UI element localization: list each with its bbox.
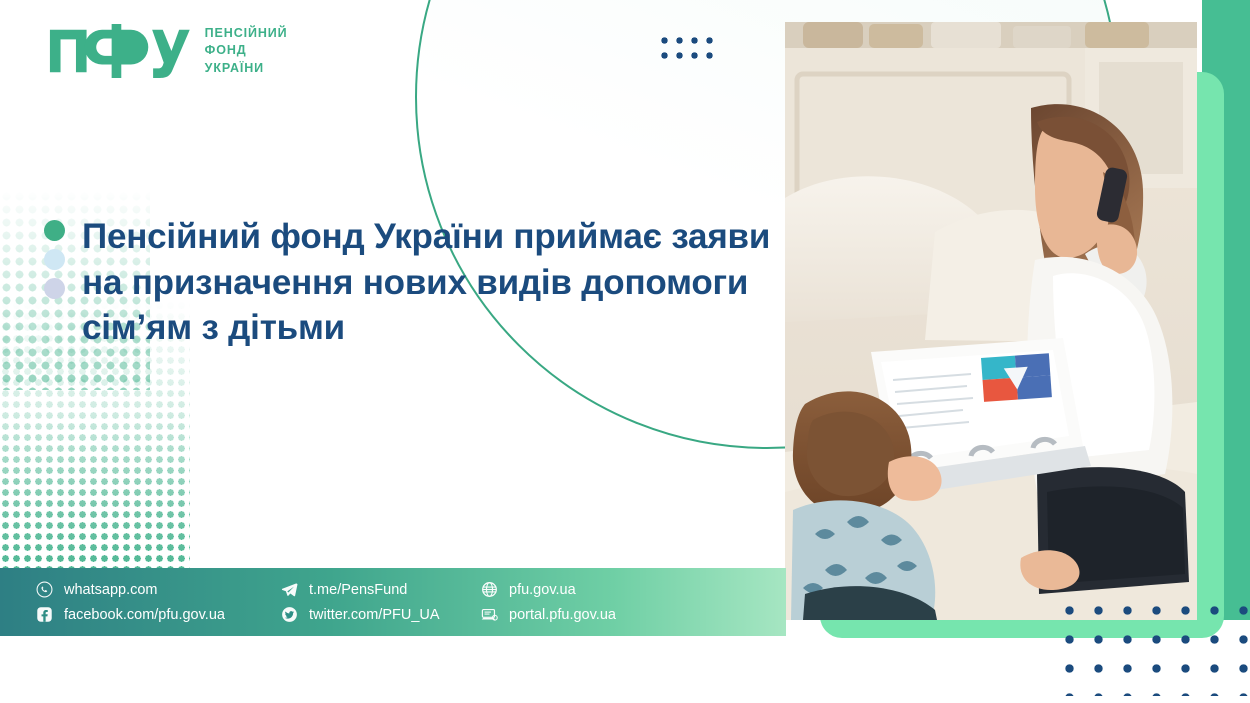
footer-column-3: pfu.gov.ua portal.pfu.gov.ua — [481, 581, 681, 623]
footer-link-label: t.me/PensFund — [309, 582, 407, 598]
footer-link-label: twitter.com/PFU_UA — [309, 607, 440, 623]
footer-link-whatsapp[interactable]: whatsapp.com — [36, 581, 281, 598]
footer-link-label: pfu.gov.ua — [509, 582, 576, 598]
footer-column-1: whatsapp.com facebook.com/pfu.gov.ua — [36, 581, 281, 623]
bullet-dot-green — [44, 220, 65, 241]
logo-line-3: УКРАЇНИ — [205, 61, 288, 77]
footer-link-telegram[interactable]: t.me/PensFund — [281, 581, 481, 598]
headline-block: Пенсійний фонд України приймає заяви на … — [44, 214, 772, 351]
headline-bullets — [44, 214, 65, 351]
portal-icon — [481, 606, 498, 623]
footer-link-label: whatsapp.com — [64, 582, 158, 598]
facebook-icon — [36, 606, 53, 623]
logo-line-1: ПЕНСІЙНИЙ — [205, 26, 288, 42]
dot-grid-top — [657, 33, 717, 67]
logo-line-2: ФОНД — [205, 43, 288, 59]
pfu-logo-mark-icon — [48, 24, 193, 78]
footer-link-facebook[interactable]: facebook.com/pfu.gov.ua — [36, 606, 281, 623]
poster-canvas: ПЕНСІЙНИЙ ФОНД УКРАЇНИ Пенсійний фонд Ук… — [0, 0, 1250, 703]
footer-link-label: portal.pfu.gov.ua — [509, 607, 616, 623]
page-title: Пенсійний фонд України приймає заяви на … — [82, 214, 772, 351]
footer-link-twitter[interactable]: twitter.com/PFU_UA — [281, 606, 481, 623]
bullet-dot-blue — [44, 249, 65, 270]
bullet-dot-lavender — [44, 278, 65, 299]
hero-photo-illustration — [785, 22, 1197, 620]
whatsapp-icon — [36, 581, 53, 598]
telegram-icon — [281, 581, 298, 598]
contacts-footer: whatsapp.com facebook.com/pfu.gov.ua t.m… — [0, 568, 786, 636]
pfu-logo: ПЕНСІЙНИЙ ФОНД УКРАЇНИ — [48, 24, 288, 78]
hero-photo — [785, 22, 1197, 620]
footer-column-2: t.me/PensFund twitter.com/PFU_UA — [281, 581, 481, 623]
twitter-icon — [281, 606, 298, 623]
pfu-logo-wordmark: ПЕНСІЙНИЙ ФОНД УКРАЇНИ — [205, 26, 288, 77]
footer-link-website[interactable]: pfu.gov.ua — [481, 581, 681, 598]
globe-icon — [481, 581, 498, 598]
footer-link-portal[interactable]: portal.pfu.gov.ua — [481, 606, 681, 623]
footer-link-label: facebook.com/pfu.gov.ua — [64, 607, 225, 623]
